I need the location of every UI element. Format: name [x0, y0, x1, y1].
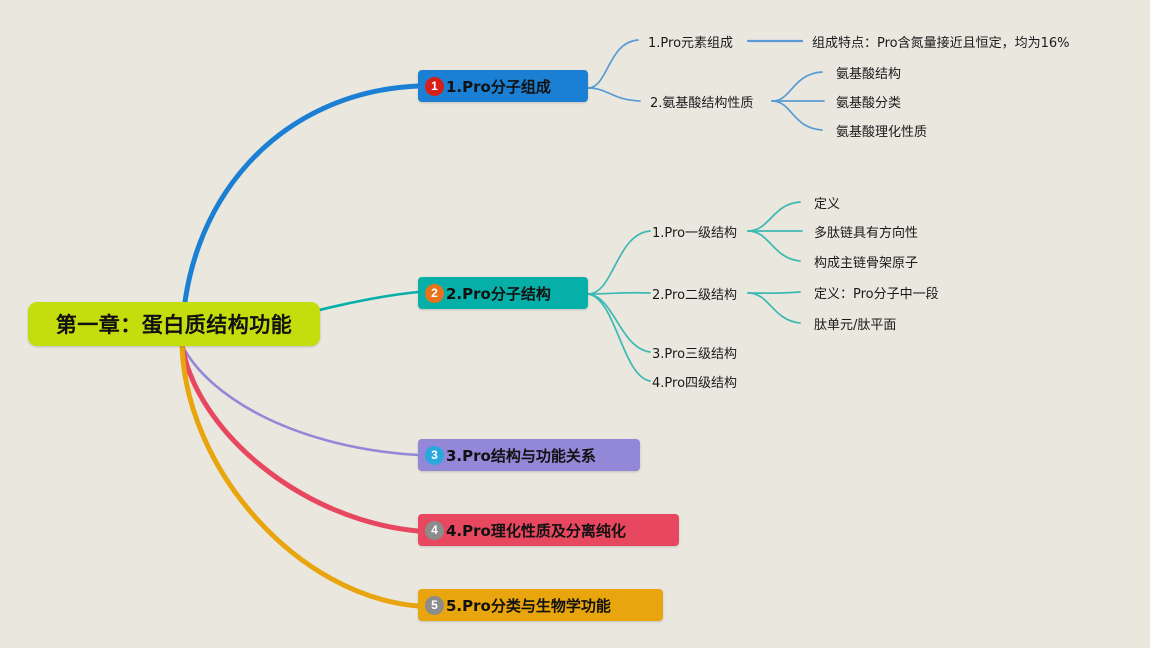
leaf-peptide-unit-plane[interactable]: 肽单元/肽平面	[814, 314, 896, 333]
leaf-pro-tertiary-structure[interactable]: 3.Pro三级结构	[652, 343, 737, 362]
branch-5-badge: 5	[425, 596, 444, 615]
branch-2-badge: 2	[425, 284, 444, 303]
branch-2-label: 2.Pro分子结构	[446, 283, 551, 304]
branch-1-label: 1.Pro分子组成	[446, 76, 551, 97]
wire-primary-to-child1	[748, 202, 800, 231]
wire-aa-to-child3	[772, 101, 822, 130]
wire-aa-to-child1	[772, 72, 822, 101]
wire-secondary-to-child1	[748, 292, 800, 293]
leaf-primary-definition[interactable]: 定义	[814, 193, 840, 212]
leaf-aminoacid-structure[interactable]: 氨基酸结构	[836, 63, 901, 82]
wire-root-to-branch-4	[182, 345, 418, 531]
branch-4-badge: 4	[425, 521, 444, 540]
root-node[interactable]: 第一章：蛋白质结构功能	[28, 302, 320, 346]
root-node-label: 第一章：蛋白质结构功能	[56, 309, 293, 339]
leaf-composition-feature[interactable]: 组成特点：Pro含氮量接近且恒定，均为16%	[812, 32, 1070, 51]
leaf-pro-secondary-structure[interactable]: 2.Pro二级结构	[652, 284, 737, 303]
wire-secondary-to-child2	[748, 293, 800, 323]
branch-5-label: 5.Pro分类与生物学功能	[446, 595, 611, 616]
leaf-pro-element-composition[interactable]: 1.Pro元素组成	[648, 32, 733, 51]
wire-branch2-to-child1	[588, 231, 650, 294]
wire-primary-to-child3	[748, 231, 800, 261]
wire-root-to-branch-5	[182, 345, 418, 606]
wire-branch2-to-child4	[588, 294, 650, 381]
leaf-pro-quaternary-structure[interactable]: 4.Pro四级结构	[652, 372, 737, 391]
branch-node-3[interactable]: 3 3.Pro结构与功能关系	[418, 439, 640, 471]
branch-node-4[interactable]: 4 4.Pro理化性质及分离纯化	[418, 514, 679, 546]
leaf-aminoacid-classification[interactable]: 氨基酸分类	[836, 92, 901, 111]
branch-node-1[interactable]: 1 1.Pro分子组成	[418, 70, 588, 102]
wire-root-to-branch-3	[182, 345, 418, 455]
leaf-aminoacid-physchem-property[interactable]: 氨基酸理化性质	[836, 121, 927, 140]
branch-node-5[interactable]: 5 5.Pro分类与生物学功能	[418, 589, 663, 621]
branch-1-badge: 1	[425, 77, 444, 96]
wire-branch1-to-child2	[588, 88, 640, 101]
branch-3-badge: 3	[425, 446, 444, 465]
branch-node-2[interactable]: 2 2.Pro分子结构	[418, 277, 588, 309]
leaf-pro-primary-structure[interactable]: 1.Pro一级结构	[652, 222, 737, 241]
branch-3-label: 3.Pro结构与功能关系	[446, 445, 596, 466]
wire-branch1-to-child1	[588, 40, 638, 88]
leaf-secondary-definition[interactable]: 定义：Pro分子中一段	[814, 283, 939, 302]
wire-branch2-to-child2	[588, 293, 650, 294]
mindmap-canvas: 第一章：蛋白质结构功能 1 1.Pro分子组成 1.Pro元素组成 组成特点：P…	[0, 0, 1150, 648]
branch-4-label: 4.Pro理化性质及分离纯化	[446, 520, 626, 541]
wire-branch2-to-child3	[588, 294, 650, 352]
leaf-polypeptide-direction[interactable]: 多肽链具有方向性	[814, 222, 918, 241]
leaf-aminoacid-structure-property[interactable]: 2.氨基酸结构性质	[650, 92, 753, 111]
leaf-backbone-atoms[interactable]: 构成主链骨架原子	[814, 252, 918, 271]
